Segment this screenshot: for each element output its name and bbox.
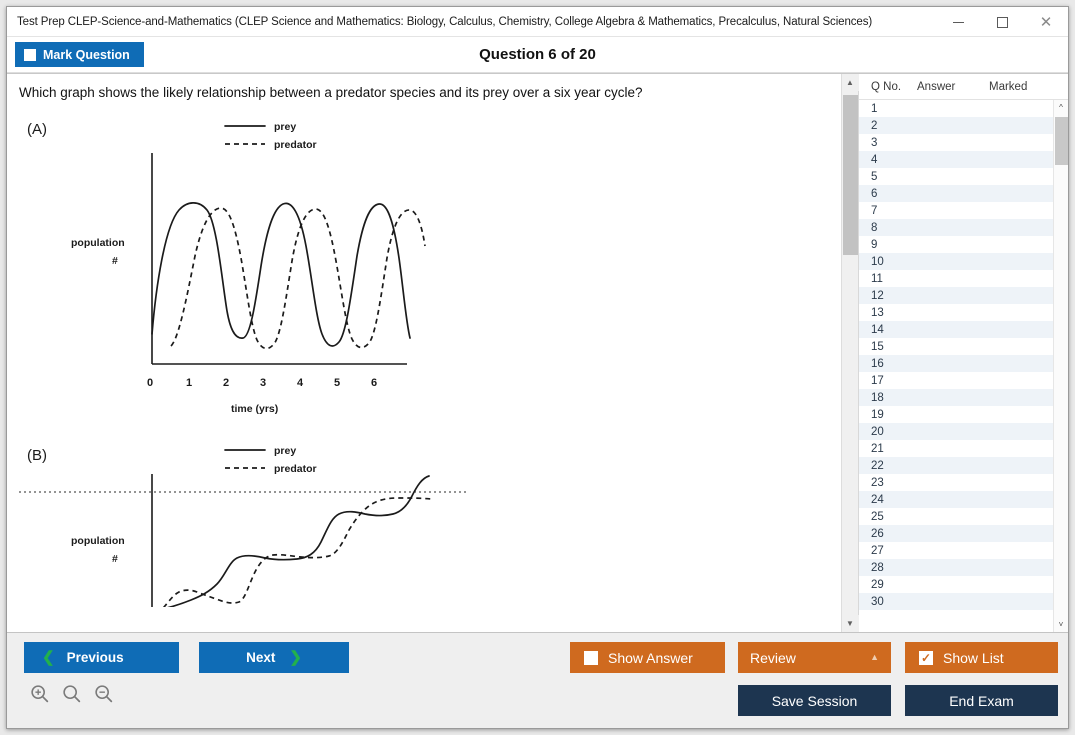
table-row[interactable]: 7 bbox=[859, 202, 1053, 219]
table-row[interactable]: 21 bbox=[859, 440, 1053, 457]
option-b-label: (B) bbox=[27, 447, 47, 464]
content-scrollbar-thumb[interactable] bbox=[843, 95, 858, 255]
review-label: Review bbox=[750, 650, 796, 666]
row-qno: 2 bbox=[859, 120, 917, 132]
previous-label: Previous bbox=[67, 650, 124, 665]
row-qno: 20 bbox=[859, 426, 917, 438]
show-list-button[interactable]: ✓ Show List bbox=[905, 642, 1058, 673]
column-header-qno: Q No. bbox=[859, 81, 917, 93]
previous-button[interactable]: ❮ Previous bbox=[24, 642, 179, 673]
question-header-bar: Mark Question Question 6 of 20 bbox=[7, 37, 1068, 73]
footer-toolbar: ❮ Previous Next ❯ Show Answer Review ▲ ✓… bbox=[7, 632, 1068, 728]
graph-a-legend-prey: prey bbox=[274, 121, 296, 133]
row-qno: 25 bbox=[859, 511, 917, 523]
graph-a-svg: (A) prey predator population # bbox=[19, 106, 459, 436]
table-row[interactable]: 29 bbox=[859, 576, 1053, 593]
row-qno: 12 bbox=[859, 290, 917, 302]
title-bar: Test Prep CLEP-Science-and-Mathematics (… bbox=[7, 7, 1068, 37]
content-scrollbar-track[interactable] bbox=[842, 91, 859, 615]
table-row[interactable]: 28 bbox=[859, 559, 1053, 576]
row-qno: 16 bbox=[859, 358, 917, 370]
row-qno: 9 bbox=[859, 239, 917, 251]
save-session-label: Save Session bbox=[772, 693, 858, 709]
mark-question-label: Mark Question bbox=[43, 48, 130, 62]
table-row[interactable]: 15 bbox=[859, 338, 1053, 355]
table-row[interactable]: 9 bbox=[859, 236, 1053, 253]
row-qno: 13 bbox=[859, 307, 917, 319]
question-prompt: Which graph shows the likely relationshi… bbox=[7, 74, 841, 106]
maximize-icon bbox=[997, 17, 1008, 28]
list-scroll-down-arrow-icon[interactable]: ˅ bbox=[1054, 617, 1069, 632]
list-scrollbar-track[interactable] bbox=[1054, 115, 1069, 617]
table-row[interactable]: 23 bbox=[859, 474, 1053, 491]
table-row[interactable]: 12 bbox=[859, 287, 1053, 304]
question-list-scrollbar[interactable]: ^ ˅ bbox=[1053, 100, 1068, 632]
row-qno: 23 bbox=[859, 477, 917, 489]
graph-a-xtick-4: 4 bbox=[297, 377, 304, 389]
table-row[interactable]: 27 bbox=[859, 542, 1053, 559]
row-qno: 27 bbox=[859, 545, 917, 557]
table-row[interactable]: 20 bbox=[859, 423, 1053, 440]
show-list-label: Show List bbox=[943, 650, 1004, 666]
graph-a-ylabel: population bbox=[71, 237, 125, 249]
graph-a-xtick-6: 6 bbox=[371, 377, 377, 389]
graph-a-xtick-3: 3 bbox=[260, 377, 266, 389]
list-scroll-up-arrow-icon[interactable]: ^ bbox=[1054, 100, 1069, 115]
graph-b-legend-prey: prey bbox=[274, 445, 296, 457]
table-row[interactable]: 18 bbox=[859, 389, 1053, 406]
row-qno: 5 bbox=[859, 171, 917, 183]
table-row[interactable]: 5 bbox=[859, 168, 1053, 185]
graph-a-xtick-5: 5 bbox=[334, 377, 340, 389]
table-row[interactable]: 10 bbox=[859, 253, 1053, 270]
graph-a-xtick-1: 1 bbox=[186, 377, 192, 389]
graph-b-legend-predator: predator bbox=[274, 463, 317, 475]
scroll-down-arrow-icon[interactable]: ▼ bbox=[842, 615, 859, 632]
table-row[interactable]: 13 bbox=[859, 304, 1053, 321]
column-header-answer: Answer bbox=[917, 81, 989, 93]
row-qno: 4 bbox=[859, 154, 917, 166]
table-row[interactable]: 1 bbox=[859, 100, 1053, 117]
table-row[interactable]: 22 bbox=[859, 457, 1053, 474]
question-list-rows: 1234567891011121314151617181920212223242… bbox=[859, 100, 1053, 632]
column-header-marked: Marked bbox=[989, 81, 1068, 93]
row-qno: 10 bbox=[859, 256, 917, 268]
show-list-checkbox-icon: ✓ bbox=[919, 651, 933, 665]
zoom-reset-icon[interactable] bbox=[61, 683, 83, 705]
table-row[interactable]: 17 bbox=[859, 372, 1053, 389]
window-controls: ✕ bbox=[936, 7, 1068, 37]
mark-question-button[interactable]: Mark Question bbox=[15, 42, 144, 67]
graph-a-xlabel: time (yrs) bbox=[231, 403, 278, 415]
row-qno: 29 bbox=[859, 579, 917, 591]
row-qno: 15 bbox=[859, 341, 917, 353]
row-qno: 7 bbox=[859, 205, 917, 217]
table-row[interactable]: 3 bbox=[859, 134, 1053, 151]
table-row[interactable]: 26 bbox=[859, 525, 1053, 542]
show-answer-button[interactable]: Show Answer bbox=[570, 642, 725, 673]
graph-a-xtick-2: 2 bbox=[223, 377, 229, 389]
save-session-button[interactable]: Save Session bbox=[738, 685, 891, 716]
check-tick-icon: ✓ bbox=[921, 652, 931, 664]
question-content-pane: Which graph shows the likely relationshi… bbox=[7, 74, 841, 632]
end-exam-label: End Exam bbox=[949, 693, 1014, 709]
app-window: Test Prep CLEP-Science-and-Mathematics (… bbox=[6, 6, 1069, 729]
question-list-pane: Q No. Answer Marked 12345678910111213141… bbox=[858, 74, 1068, 632]
table-row[interactable]: 11 bbox=[859, 270, 1053, 287]
row-qno: 21 bbox=[859, 443, 917, 455]
row-qno: 18 bbox=[859, 392, 917, 404]
row-qno: 24 bbox=[859, 494, 917, 506]
review-dropdown[interactable]: Review ▲ bbox=[738, 642, 891, 673]
maximize-button[interactable] bbox=[980, 7, 1024, 37]
page-title: Question 6 of 20 bbox=[7, 46, 1068, 63]
row-qno: 1 bbox=[859, 103, 917, 115]
chevron-right-icon: ❯ bbox=[289, 650, 302, 665]
table-row[interactable]: 24 bbox=[859, 491, 1053, 508]
list-scrollbar-thumb[interactable] bbox=[1055, 117, 1068, 165]
table-row[interactable]: 6 bbox=[859, 185, 1053, 202]
zoom-controls bbox=[29, 683, 115, 705]
row-qno: 19 bbox=[859, 409, 917, 421]
zoom-in-icon[interactable] bbox=[29, 683, 51, 705]
row-qno: 26 bbox=[859, 528, 917, 540]
next-button[interactable]: Next ❯ bbox=[199, 642, 349, 673]
table-row[interactable]: 25 bbox=[859, 508, 1053, 525]
show-answer-label: Show Answer bbox=[608, 650, 693, 666]
graph-option-a: (A) prey predator population # bbox=[7, 106, 841, 436]
scroll-up-arrow-icon[interactable]: ▲ bbox=[842, 74, 859, 91]
end-exam-button[interactable]: End Exam bbox=[905, 685, 1058, 716]
row-qno: 14 bbox=[859, 324, 917, 336]
body-area: Which graph shows the likely relationshi… bbox=[7, 73, 1068, 632]
mark-question-checkbox-icon bbox=[24, 49, 36, 61]
graph-option-b: (B) prey predator population # bbox=[7, 432, 841, 607]
row-qno: 6 bbox=[859, 188, 917, 200]
graph-b-svg: (B) prey predator population # bbox=[19, 432, 479, 607]
option-a-label: (A) bbox=[27, 121, 47, 138]
graph-a-xtick-0: 0 bbox=[147, 377, 153, 389]
question-list-header: Q No. Answer Marked bbox=[859, 74, 1068, 100]
row-qno: 22 bbox=[859, 460, 917, 472]
close-button[interactable]: ✕ bbox=[1024, 7, 1068, 37]
minimize-icon bbox=[953, 22, 964, 23]
table-row[interactable]: 19 bbox=[859, 406, 1053, 423]
row-qno: 11 bbox=[859, 273, 917, 285]
graph-a-legend-predator: predator bbox=[274, 139, 317, 151]
zoom-out-icon[interactable] bbox=[93, 683, 115, 705]
question-list-scroll-wrap: 1234567891011121314151617181920212223242… bbox=[859, 100, 1068, 632]
graph-b-ylabel-hash: # bbox=[112, 553, 118, 565]
table-row[interactable]: 8 bbox=[859, 219, 1053, 236]
table-row[interactable]: 14 bbox=[859, 321, 1053, 338]
window-title: Test Prep CLEP-Science-and-Mathematics (… bbox=[7, 16, 872, 28]
graph-a-ylabel-hash: # bbox=[112, 255, 118, 267]
chevron-up-icon: ▲ bbox=[870, 653, 879, 662]
table-row[interactable]: 2 bbox=[859, 117, 1053, 134]
minimize-button[interactable] bbox=[936, 7, 980, 37]
close-icon: ✕ bbox=[1040, 15, 1053, 30]
row-qno: 17 bbox=[859, 375, 917, 387]
table-row[interactable]: 16 bbox=[859, 355, 1053, 372]
row-qno: 28 bbox=[859, 562, 917, 574]
row-qno: 8 bbox=[859, 222, 917, 234]
show-answer-checkbox-icon bbox=[584, 651, 598, 665]
row-qno: 3 bbox=[859, 137, 917, 149]
content-scrollbar[interactable]: ▲ ▼ bbox=[841, 74, 858, 632]
table-row[interactable]: 4 bbox=[859, 151, 1053, 168]
graph-b-ylabel: population bbox=[71, 535, 125, 547]
next-label: Next bbox=[246, 650, 275, 665]
table-row[interactable]: 30 bbox=[859, 593, 1053, 610]
chevron-left-icon: ❮ bbox=[42, 650, 55, 665]
row-qno: 30 bbox=[859, 596, 917, 608]
